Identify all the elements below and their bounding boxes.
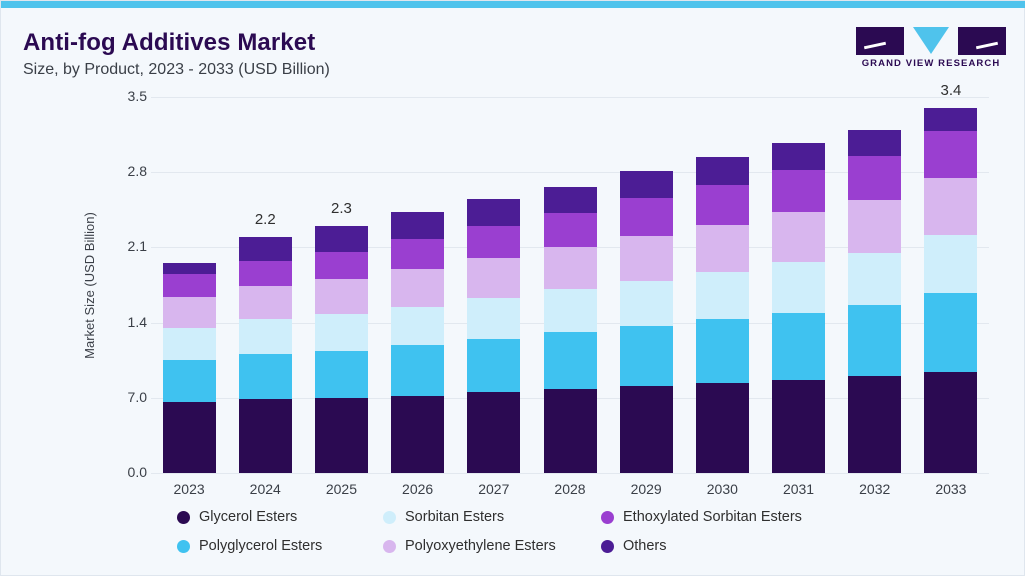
x-axis-tick: 2027 (456, 481, 532, 497)
bar-segment[interactable] (467, 339, 520, 393)
top-accent-bar (1, 1, 1025, 8)
bar-segment[interactable] (467, 258, 520, 298)
legend-label: Ethoxylated Sorbitan Esters (623, 509, 802, 525)
bar-segment[interactable] (544, 187, 597, 213)
bar-segment[interactable] (924, 178, 977, 235)
bar-segment[interactable] (848, 200, 901, 253)
plot-area: 0.07.01.42.12.83.520232.220242.320252026… (151, 97, 989, 473)
bar-stack[interactable] (467, 199, 520, 473)
bar-segment[interactable] (315, 314, 368, 351)
bar-segment[interactable] (620, 171, 673, 198)
bar-stack[interactable] (239, 237, 292, 473)
legend-label: Polyoxyethylene Esters (405, 538, 556, 554)
bar-segment[interactable] (315, 279, 368, 314)
legend-label: Polyglycerol Esters (199, 538, 322, 554)
legend-swatch-icon (177, 511, 190, 524)
bar-segment[interactable] (239, 286, 292, 319)
legend-item[interactable]: Sorbitan Esters (383, 509, 601, 525)
bar-segment[interactable] (696, 185, 749, 225)
bar-segment[interactable] (239, 261, 292, 286)
y-axis-tick: 7.0 (87, 389, 147, 405)
bar-segment[interactable] (696, 383, 749, 473)
bar-stack[interactable] (315, 226, 368, 473)
bar-segment[interactable] (772, 143, 825, 170)
bar-segment[interactable] (544, 389, 597, 473)
bar-segment[interactable] (391, 212, 444, 239)
logo-triangle-icon (913, 27, 949, 54)
bar-segment[interactable] (163, 263, 216, 275)
bar-segment[interactable] (620, 326, 673, 386)
bar-segment[interactable] (391, 239, 444, 269)
bar-segment[interactable] (391, 269, 444, 307)
bar-segment[interactable] (544, 213, 597, 247)
y-axis-tick: 1.4 (87, 314, 147, 330)
bar-segment[interactable] (239, 399, 292, 473)
legend-item[interactable]: Others (601, 538, 807, 554)
y-axis-tick: 3.5 (87, 88, 147, 104)
bar-stack[interactable] (772, 143, 825, 473)
bar-stack[interactable] (163, 262, 216, 473)
bar-segment[interactable] (848, 376, 901, 473)
bar-segment[interactable] (391, 396, 444, 473)
bar-value-label: 3.4 (940, 82, 961, 99)
legend-swatch-icon (601, 511, 614, 524)
bar-segment[interactable] (848, 130, 901, 156)
bar-segment[interactable] (544, 247, 597, 289)
bar-segment[interactable] (924, 131, 977, 177)
x-axis-tick: 2031 (760, 481, 836, 497)
legend-swatch-icon (383, 511, 396, 524)
bar-segment[interactable] (163, 402, 216, 473)
y-axis-label-text: Market Size (USD Billion) (82, 212, 97, 359)
chart-page: Anti-fog Additives Market Size, by Produ… (0, 0, 1025, 576)
legend-label: Glycerol Esters (199, 509, 297, 525)
bar-segment[interactable] (239, 354, 292, 399)
gridline (151, 97, 989, 98)
bar-segment[interactable] (163, 297, 216, 328)
bar-segment[interactable] (239, 237, 292, 262)
bar-segment[interactable] (163, 328, 216, 360)
bar-value-label: 2.3 (331, 200, 352, 217)
bar-segment[interactable] (620, 386, 673, 473)
bar-segment[interactable] (772, 380, 825, 473)
bar-segment[interactable] (544, 332, 597, 389)
bar-segment[interactable] (620, 281, 673, 326)
bar-segment[interactable] (924, 372, 977, 473)
legend-label: Sorbitan Esters (405, 509, 504, 525)
legend-swatch-icon (383, 540, 396, 553)
bar-stack[interactable] (924, 108, 977, 473)
bar-segment[interactable] (467, 392, 520, 473)
x-axis-tick: 2025 (303, 481, 379, 497)
bar-segment[interactable] (391, 345, 444, 395)
logo-right-slash-icon (976, 42, 998, 50)
legend-label: Others (623, 538, 667, 554)
legend-swatch-icon (601, 540, 614, 553)
y-axis-tick: 2.1 (87, 238, 147, 254)
grand-view-research-logo: GRAND VIEW RESEARCH (856, 27, 1006, 75)
bar-stack[interactable] (544, 187, 597, 473)
x-axis-tick: 2032 (837, 481, 913, 497)
y-axis-label: Market Size (USD Billion) (79, 97, 99, 473)
bar-segment[interactable] (924, 235, 977, 293)
bar-stack[interactable] (696, 157, 749, 473)
bar-segment[interactable] (315, 398, 368, 473)
bar-segment[interactable] (315, 226, 368, 252)
bar-stack[interactable] (391, 212, 444, 473)
bar-segment[interactable] (620, 236, 673, 281)
bar-segment[interactable] (391, 307, 444, 346)
y-axis-tick: 0.0 (87, 464, 147, 480)
bar-segment[interactable] (696, 319, 749, 382)
bar-segment[interactable] (696, 225, 749, 272)
bar-segment[interactable] (696, 157, 749, 185)
bar-segment[interactable] (467, 199, 520, 226)
bar-segment[interactable] (848, 305, 901, 376)
bar-segment[interactable] (696, 272, 749, 319)
legend-item[interactable]: Ethoxylated Sorbitan Esters (601, 509, 807, 525)
bar-segment[interactable] (848, 156, 901, 200)
legend-item[interactable]: Polyoxyethylene Esters (383, 538, 601, 554)
logo-right-block (958, 27, 1006, 55)
logo-blocks (856, 27, 1006, 55)
x-axis-tick: 2029 (608, 481, 684, 497)
bar-segment[interactable] (772, 212, 825, 262)
bar-segment[interactable] (772, 262, 825, 312)
legend-swatch-icon (177, 540, 190, 553)
x-axis-tick: 2028 (532, 481, 608, 497)
bar-segment[interactable] (772, 170, 825, 212)
bar-segment[interactable] (848, 253, 901, 306)
bar-segment[interactable] (772, 313, 825, 380)
chart-legend: Glycerol EstersSorbitan EstersEthoxylate… (177, 509, 977, 567)
logo-left-block (856, 27, 904, 55)
bar-stack[interactable] (848, 130, 901, 473)
bar-segment[interactable] (239, 319, 292, 353)
x-axis-tick: 2026 (380, 481, 456, 497)
x-axis-tick: 2024 (227, 481, 303, 497)
logo-text: GRAND VIEW RESEARCH (856, 58, 1006, 69)
bar-segment[interactable] (467, 298, 520, 339)
x-axis-tick: 2030 (684, 481, 760, 497)
gridline (151, 473, 989, 474)
logo-left-slash-icon (864, 42, 886, 50)
legend-item[interactable]: Polyglycerol Esters (177, 538, 383, 554)
bar-segment[interactable] (315, 252, 368, 279)
y-axis-tick: 2.8 (87, 163, 147, 179)
bar-segment[interactable] (163, 360, 216, 402)
x-axis-tick: 2023 (151, 481, 227, 497)
bar-segment[interactable] (467, 226, 520, 258)
bar-segment[interactable] (620, 198, 673, 236)
bar-segment[interactable] (924, 293, 977, 372)
bar-segment[interactable] (315, 351, 368, 398)
x-axis-tick: 2033 (913, 481, 989, 497)
page-subtitle: Size, by Product, 2023 - 2033 (USD Billi… (23, 61, 330, 79)
bar-value-label: 2.2 (255, 211, 276, 228)
bar-stack[interactable] (620, 171, 673, 473)
bar-segment[interactable] (163, 274, 216, 297)
bar-segment[interactable] (924, 108, 977, 132)
page-title: Anti-fog Additives Market (23, 29, 315, 57)
legend-item[interactable]: Glycerol Esters (177, 509, 383, 525)
bar-segment[interactable] (544, 289, 597, 332)
